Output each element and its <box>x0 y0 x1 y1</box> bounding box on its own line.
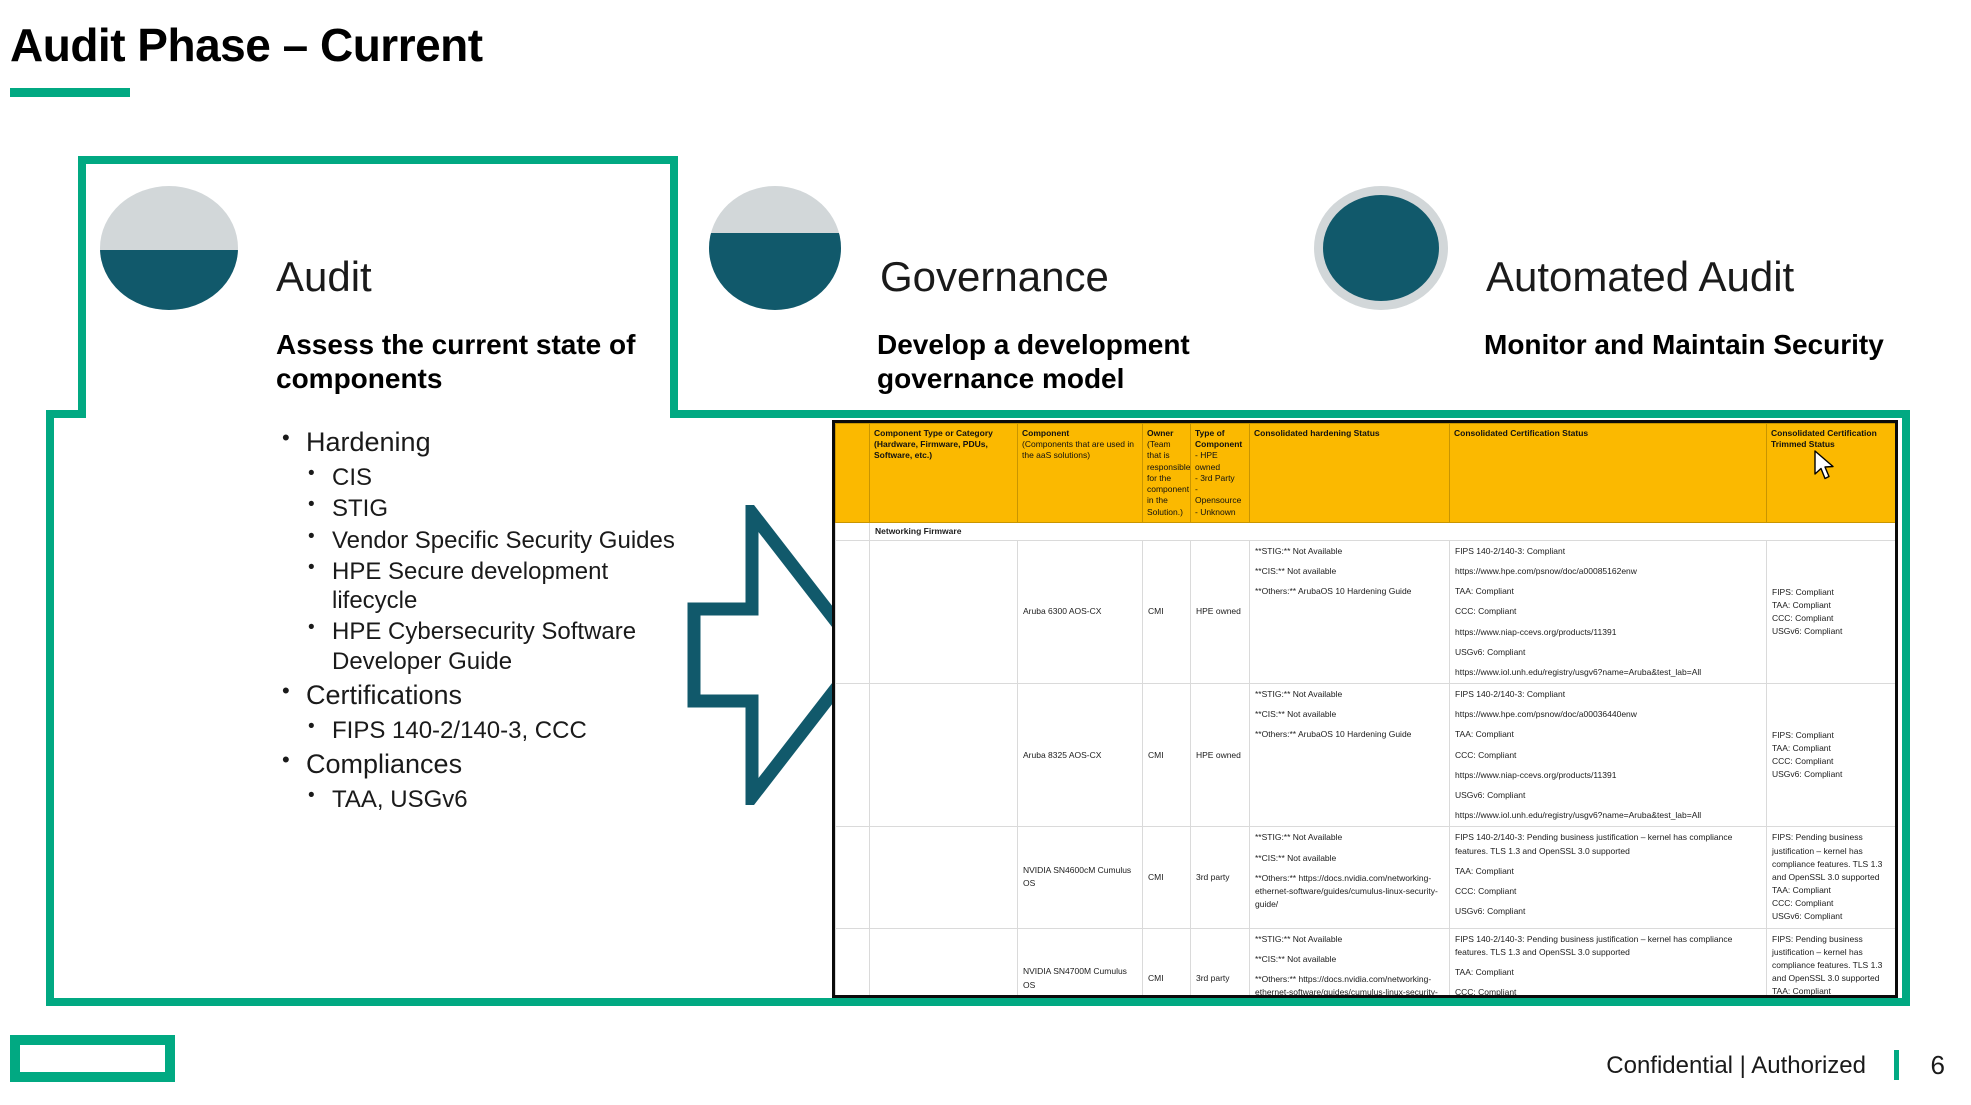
hpe-logo <box>10 1035 175 1082</box>
phase-fill-audit <box>100 250 238 310</box>
cell-line: USGv6: Compliant <box>1455 646 1761 659</box>
phase-circle-automated-audit-icon <box>1314 186 1448 310</box>
cell-line: CCC: Compliant <box>1455 885 1761 898</box>
certification-trimmed-status-cell: FIPS: CompliantTAA: CompliantCCC: Compli… <box>1767 684 1899 827</box>
certification-status-cell: FIPS 140-2/140-3: Complianthttps://www.h… <box>1450 540 1767 683</box>
category-cell <box>870 684 1018 827</box>
cell-line: FIPS: Compliant <box>1772 729 1896 742</box>
footer-page-number: 6 <box>1931 1050 1945 1081</box>
bullet-item: STIG <box>276 494 696 523</box>
row-index-cell <box>836 684 870 827</box>
table-category-row[interactable]: Networking Firmware <box>836 522 1899 540</box>
components-audit-table[interactable]: Component Type or Category (Hardware, Fi… <box>832 420 1898 998</box>
column-header-sublabel: - HPE owned - 3rd Party - Opensource - U… <box>1195 450 1245 517</box>
component-cell: NVIDIA SN4600cM Cumulus OS <box>1018 827 1143 928</box>
bullet-item: Certifications <box>276 678 696 713</box>
phase-subtitle-audit: Assess the current state of components <box>276 328 676 396</box>
certification-status-cell: FIPS 140-2/140-3: Pending business justi… <box>1450 827 1767 928</box>
page-title: Audit Phase – Current <box>10 18 483 72</box>
cell-line: FIPS: Pending business justification – k… <box>1772 933 1896 986</box>
bullet-item: CIS <box>276 463 696 492</box>
table-row[interactable]: Aruba 8325 AOS-CXCMIHPE owned**STIG:** N… <box>836 684 1899 827</box>
cell-line: CCC: Compliant <box>1772 755 1896 768</box>
table-row[interactable]: Aruba 6300 AOS-CXCMIHPE owned**STIG:** N… <box>836 540 1899 683</box>
cell-line: **STIG:** Not Available <box>1255 688 1444 701</box>
cell-line: https://www.niap-ccevs.org/products/1139… <box>1455 769 1761 782</box>
table-header-row: Component Type or Category (Hardware, Fi… <box>836 424 1899 523</box>
cell-line: **STIG:** Not Available <box>1255 933 1444 946</box>
components-table: Component Type or Category (Hardware, Fi… <box>835 423 1898 998</box>
phase-name-audit: Audit <box>276 253 372 301</box>
hardening-status-cell: **STIG:** Not Available**CIS:** Not avai… <box>1250 827 1450 928</box>
cell-line: TAA: Compliant <box>1772 599 1896 612</box>
cell-line: USGv6: Compliant <box>1772 768 1896 781</box>
cell-line: **CIS:** Not available <box>1255 852 1444 865</box>
mouse-cursor-icon <box>1814 450 1836 482</box>
frame-middle-top-edge <box>670 410 1910 418</box>
hardening-status-cell: **STIG:** Not Available**CIS:** Not avai… <box>1250 684 1450 827</box>
column-header-sublabel: (Components that are used in the aaS sol… <box>1022 439 1138 461</box>
category-label-cell: Networking Firmware <box>870 522 1899 540</box>
cell-line: **STIG:** Not Available <box>1255 831 1444 844</box>
phase-subtitle-governance: Develop a development governance model <box>877 328 1297 396</box>
cell-line: **Others:** https://docs.nvidia.com/netw… <box>1255 872 1444 912</box>
bullet-item: HPE Cybersecurity Software Developer Gui… <box>276 617 696 676</box>
component-cell: NVIDIA SN4700M Cumulus OS <box>1018 928 1143 998</box>
certification-trimmed-status-cell: FIPS: Pending business justification – k… <box>1767 827 1899 928</box>
category-cell <box>870 540 1018 683</box>
cell-line: CCC: Compliant <box>1772 612 1896 625</box>
cell-line: USGv6: Compliant <box>1455 905 1761 918</box>
phase-circle-governance-icon <box>709 186 841 310</box>
bullet-item: FIPS 140-2/140-3, CCC <box>276 716 696 745</box>
component-cell: Aruba 6300 AOS-CX <box>1018 540 1143 683</box>
component-cell: Aruba 8325 AOS-CX <box>1018 684 1143 827</box>
cell-line: CCC: Compliant <box>1772 897 1896 910</box>
hardening-status-cell: **STIG:** Not Available**CIS:** Not avai… <box>1250 540 1450 683</box>
cell-line: USGv6: Compliant <box>1772 625 1896 638</box>
column-header-label: Consolidated Certification Status <box>1454 428 1588 438</box>
cell-line: **Others:** ArubaOS 10 Hardening Guide <box>1255 585 1444 598</box>
type-of-component-cell: 3rd party <box>1191 827 1250 928</box>
cell-line: USGv6: Compliant <box>1455 789 1761 802</box>
category-cell <box>870 827 1018 928</box>
table-body: Networking FirmwareAruba 6300 AOS-CXCMIH… <box>836 522 1899 998</box>
cell-line: FIPS: Compliant <box>1772 586 1896 599</box>
cell-line: https://www.iol.unh.edu/registry/usgv6?n… <box>1455 809 1761 822</box>
bullet-item: TAA, USGv6 <box>276 785 696 814</box>
cell-line: TAA: Compliant <box>1772 884 1896 897</box>
row-index-cell <box>836 522 870 540</box>
footer-classification: Confidential | Authorized <box>1606 1052 1866 1080</box>
owner-cell: CMI <box>1143 827 1191 928</box>
column-header[interactable]: Owner(Team that is responsible for the c… <box>1143 424 1191 523</box>
cell-line: https://www.hpe.com/psnow/doc/a00085162e… <box>1455 565 1761 578</box>
cell-line: TAA: Compliant <box>1455 728 1761 741</box>
owner-cell: CMI <box>1143 540 1191 683</box>
cell-line: FIPS: Pending business justification – k… <box>1772 831 1896 884</box>
column-header-label: Component <box>1022 428 1069 438</box>
phase-name-automated-audit: Automated Audit <box>1486 253 1794 301</box>
footer-divider <box>1894 1050 1899 1080</box>
phase-circle-audit-icon <box>100 186 238 310</box>
certification-trimmed-status-cell: FIPS: Pending business justification – k… <box>1767 928 1899 998</box>
phase-name-governance: Governance <box>880 253 1109 301</box>
row-index-cell <box>836 827 870 928</box>
table-row[interactable]: NVIDIA SN4700M Cumulus OSCMI3rd party**S… <box>836 928 1899 998</box>
type-of-component-cell: 3rd party <box>1191 928 1250 998</box>
cell-line: TAA: Compliant <box>1455 585 1761 598</box>
row-index-cell <box>836 928 870 998</box>
table-head-tr: Component Type or Category (Hardware, Fi… <box>836 424 1899 523</box>
column-header[interactable]: Consolidated hardening Status <box>1250 424 1450 523</box>
cell-line: **CIS:** Not available <box>1255 708 1444 721</box>
cell-line: CCC: Compliant <box>1455 605 1761 618</box>
certification-status-cell: FIPS 140-2/140-3: Pending business justi… <box>1450 928 1767 998</box>
type-of-component-cell: HPE owned <box>1191 540 1250 683</box>
cell-line: FIPS 140-2/140-3: Pending business justi… <box>1455 933 1761 959</box>
column-header-label: Component Type or Category (Hardware, Fi… <box>874 428 993 460</box>
type-of-component-cell: HPE owned <box>1191 684 1250 827</box>
column-header[interactable]: Component(Components that are used in th… <box>1018 424 1143 523</box>
bullet-item: HPE Secure development lifecycle <box>276 557 696 616</box>
column-header[interactable]: Type of Component- HPE owned - 3rd Party… <box>1191 424 1250 523</box>
bullet-item: Compliances <box>276 747 696 782</box>
cell-line: FIPS 140-2/140-3: Compliant <box>1455 688 1761 701</box>
column-header-label: Consolidated hardening Status <box>1254 428 1380 438</box>
frame-lower-left-edge <box>46 410 54 1006</box>
column-header[interactable] <box>836 424 870 523</box>
cell-line: TAA: Compliant <box>1455 966 1761 979</box>
column-header[interactable]: Consolidated Certification Status <box>1450 424 1767 523</box>
phase-subtitle-automated-audit: Monitor and Maintain Security <box>1484 328 1904 362</box>
column-header[interactable]: Component Type or Category (Hardware, Fi… <box>870 424 1018 523</box>
certification-status-cell: FIPS 140-2/140-3: Complianthttps://www.h… <box>1450 684 1767 827</box>
audit-bullet-list: HardeningCISSTIGVendor Specific Security… <box>276 425 696 817</box>
owner-cell: CMI <box>1143 684 1191 827</box>
row-index-cell <box>836 540 870 683</box>
frame-upper-top-edge <box>78 156 678 164</box>
cell-line: CCC: Compliant <box>1455 986 1761 998</box>
cell-line: https://www.hpe.com/psnow/doc/a00036440e… <box>1455 708 1761 721</box>
frame-lower-bottom-edge <box>46 998 1910 1006</box>
frame-upper-left-edge <box>78 156 86 418</box>
cell-line: **CIS:** Not available <box>1255 953 1444 966</box>
cell-line: **CIS:** Not available <box>1255 565 1444 578</box>
category-cell <box>870 928 1018 998</box>
cell-line: TAA: Compliant <box>1455 865 1761 878</box>
bullet-item: Vendor Specific Security Guides <box>276 526 696 555</box>
phase-fill-automated-audit <box>1323 195 1439 301</box>
phase-fill-governance <box>709 233 841 310</box>
column-header-sublabel: (Team that is responsible for the compon… <box>1147 439 1186 518</box>
cell-line: https://www.niap-ccevs.org/products/1139… <box>1455 626 1761 639</box>
column-header-label: Owner <box>1147 428 1173 438</box>
cell-line: FIPS 140-2/140-3: Compliant <box>1455 545 1761 558</box>
cell-line: **Others:** ArubaOS 10 Hardening Guide <box>1255 728 1444 741</box>
title-underline-rule <box>10 88 130 97</box>
hardening-status-cell: **STIG:** Not Available**CIS:** Not avai… <box>1250 928 1450 998</box>
cell-line: CCC: Compliant <box>1455 749 1761 762</box>
slide-canvas: Audit Phase – Current Audit Assess the c… <box>0 0 1971 1105</box>
frame-lower-right-edge <box>1902 410 1910 1006</box>
bullet-item: Hardening <box>276 425 696 460</box>
cell-line: **Others:** https://docs.nvidia.com/netw… <box>1255 973 1444 998</box>
cell-line: https://www.iol.unh.edu/registry/usgv6?n… <box>1455 666 1761 679</box>
column-header-label: Consolidated Certification Trimmed Statu… <box>1771 428 1877 449</box>
owner-cell: CMI <box>1143 928 1191 998</box>
cell-line: USGv6: Compliant <box>1772 910 1896 923</box>
cell-line: FIPS 140-2/140-3: Pending business justi… <box>1455 831 1761 857</box>
certification-trimmed-status-cell: FIPS: CompliantTAA: CompliantCCC: Compli… <box>1767 540 1899 683</box>
cell-line: **STIG:** Not Available <box>1255 545 1444 558</box>
cell-line: TAA: Compliant <box>1772 742 1896 755</box>
column-header-label: Type of Component <box>1195 428 1242 449</box>
table-row[interactable]: NVIDIA SN4600cM Cumulus OSCMI3rd party**… <box>836 827 1899 928</box>
cell-line: TAA: Compliant <box>1772 985 1896 998</box>
